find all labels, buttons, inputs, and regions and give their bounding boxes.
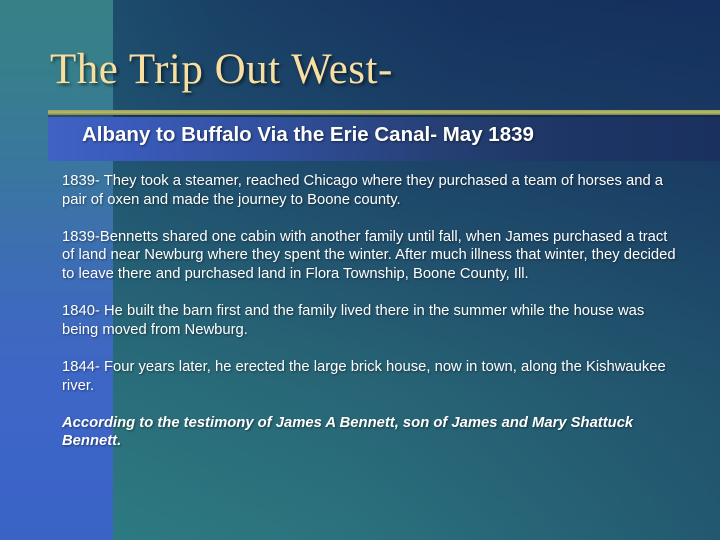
presentation-slide: The Trip Out West- Albany to Buffalo Via… [0,0,720,540]
slide-title: The Trip Out West- [50,45,690,95]
body-paragraph: 1840- He built the barn first and the fa… [62,302,680,339]
body-paragraph: 1839- They took a steamer, reached Chica… [62,172,680,209]
slide-body: 1839- They took a steamer, reached Chica… [62,172,680,470]
body-paragraph-attribution: According to the testimony of James A Be… [62,414,680,451]
body-paragraph: 1844- Four years later, he erected the l… [62,358,680,395]
slide-subtitle: Albany to Buffalo Via the Erie Canal- Ma… [82,122,702,148]
body-paragraph: 1839-Bennetts shared one cabin with anot… [62,228,680,284]
